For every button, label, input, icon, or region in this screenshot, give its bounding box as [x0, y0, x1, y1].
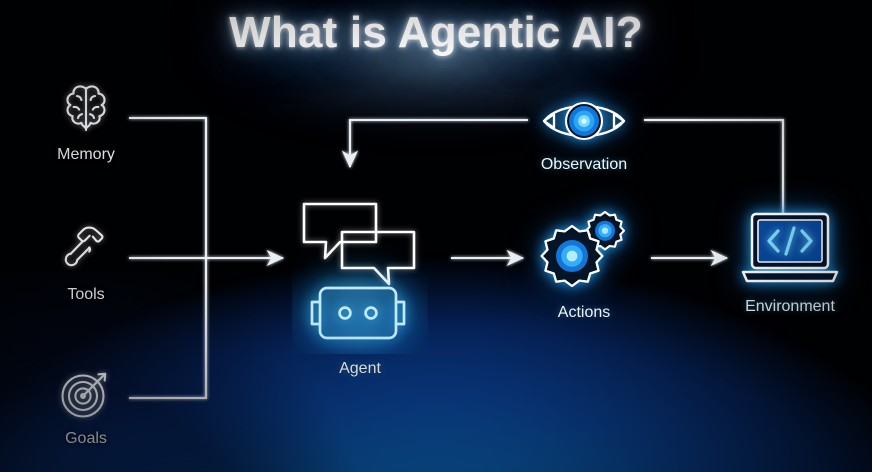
node-label-environment: Environment: [745, 298, 835, 316]
gears-icon: [534, 206, 634, 298]
page-title: What is Agentic AI?: [0, 8, 872, 58]
laptop-code-icon: [737, 208, 843, 292]
robot-chat-icon: [292, 184, 428, 354]
node-label-actions: Actions: [558, 304, 610, 322]
node-label-memory: Memory: [57, 146, 115, 164]
node-goals[interactable]: Goals: [40, 362, 132, 448]
node-label-goals: Goals: [65, 430, 107, 448]
node-observation[interactable]: Observation: [524, 92, 644, 174]
brain-icon: [55, 78, 117, 140]
target-bullseye-icon: [55, 362, 117, 424]
node-agent[interactable]: Agent: [292, 184, 428, 378]
node-actions[interactable]: Actions: [524, 206, 644, 322]
hammer-wrench-icon: [55, 218, 117, 280]
eye-icon: [538, 92, 630, 150]
infographic-canvas: What is Agentic AI?: [0, 0, 872, 472]
node-memory[interactable]: Memory: [40, 78, 132, 164]
node-tools[interactable]: Tools: [40, 218, 132, 304]
node-label-observation: Observation: [541, 156, 627, 174]
node-label-agent: Agent: [339, 360, 381, 378]
node-label-tools: Tools: [67, 286, 104, 304]
node-environment[interactable]: Environment: [714, 208, 866, 316]
